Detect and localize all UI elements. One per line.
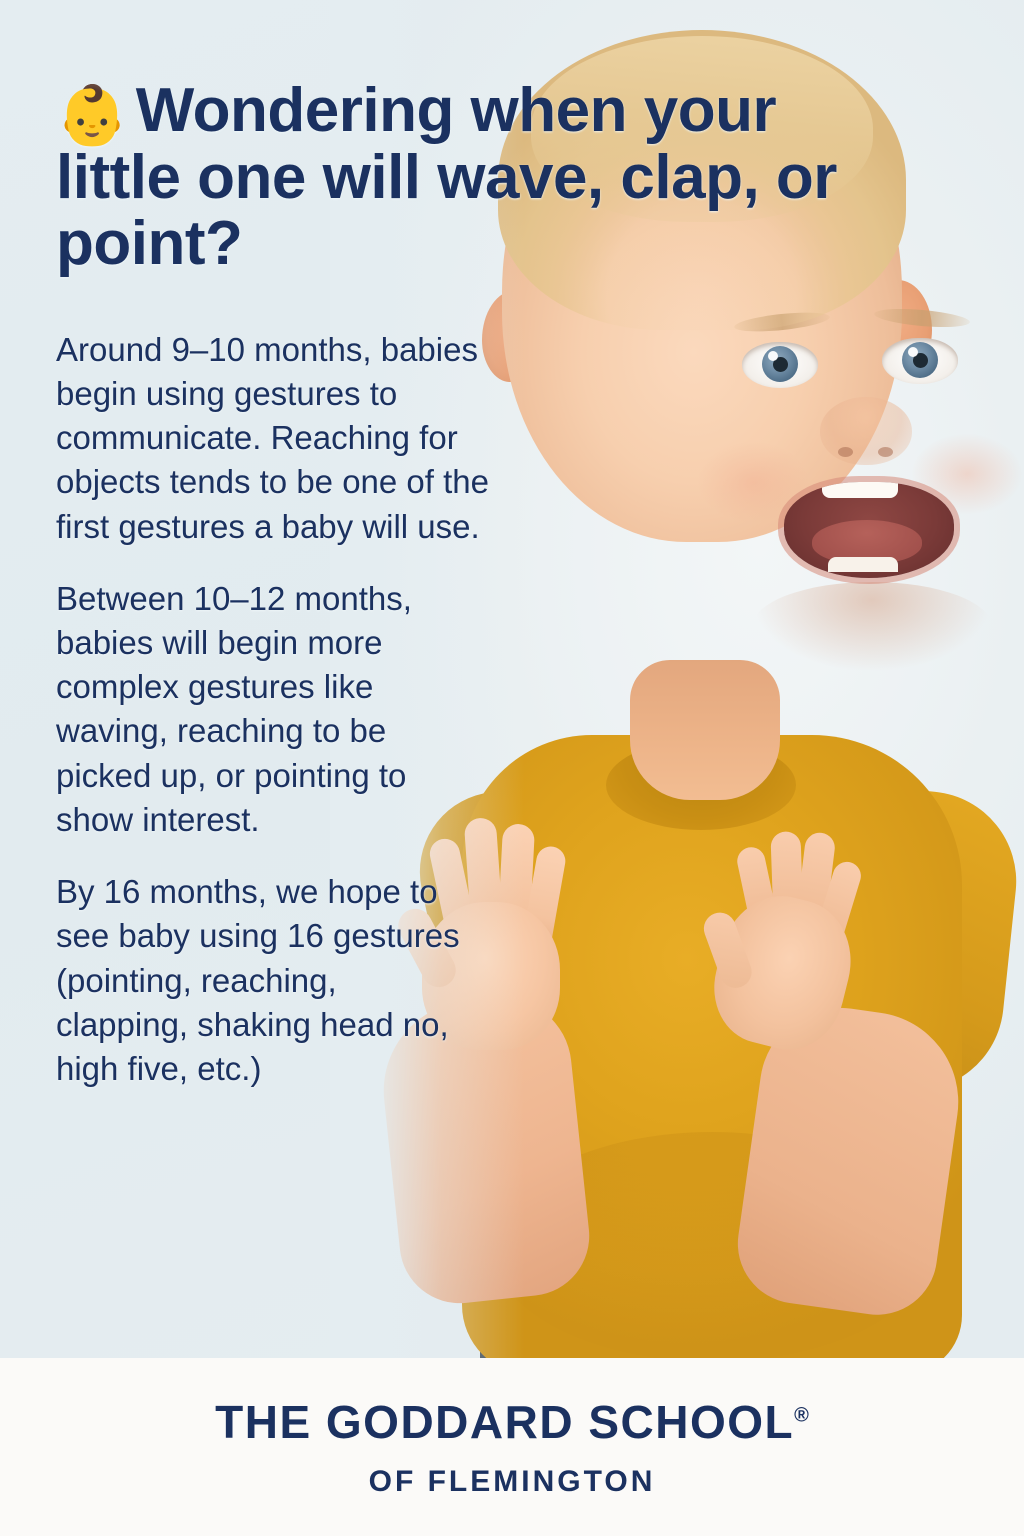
poster: 👶Wondering when your little one will wav…: [0, 0, 1024, 1536]
brand-location: OF FLEMINGTON: [369, 1465, 656, 1499]
baby-emoji: 👶: [56, 83, 128, 148]
brand-name-text: THE GODDARD SCHOOL: [215, 1396, 794, 1448]
brand-name: THE GODDARD SCHOOL®: [215, 1395, 809, 1449]
paragraph-3: By 16 months, we hope to see baby using …: [56, 870, 476, 1091]
content-column: 👶Wondering when your little one will wav…: [0, 0, 1024, 1358]
paragraph-1: Around 9–10 months, babies begin using g…: [56, 328, 528, 549]
body-copy: Around 9–10 months, babies begin using g…: [56, 328, 528, 1092]
headline-text: Wondering when your little one will wave…: [56, 76, 837, 278]
registered-trademark-icon: ®: [794, 1405, 809, 1427]
paragraph-2: Between 10–12 months, babies will begin …: [56, 577, 486, 842]
page-title: 👶Wondering when your little one will wav…: [56, 78, 916, 278]
brand-footer: THE GODDARD SCHOOL® OF FLEMINGTON: [0, 1358, 1024, 1536]
